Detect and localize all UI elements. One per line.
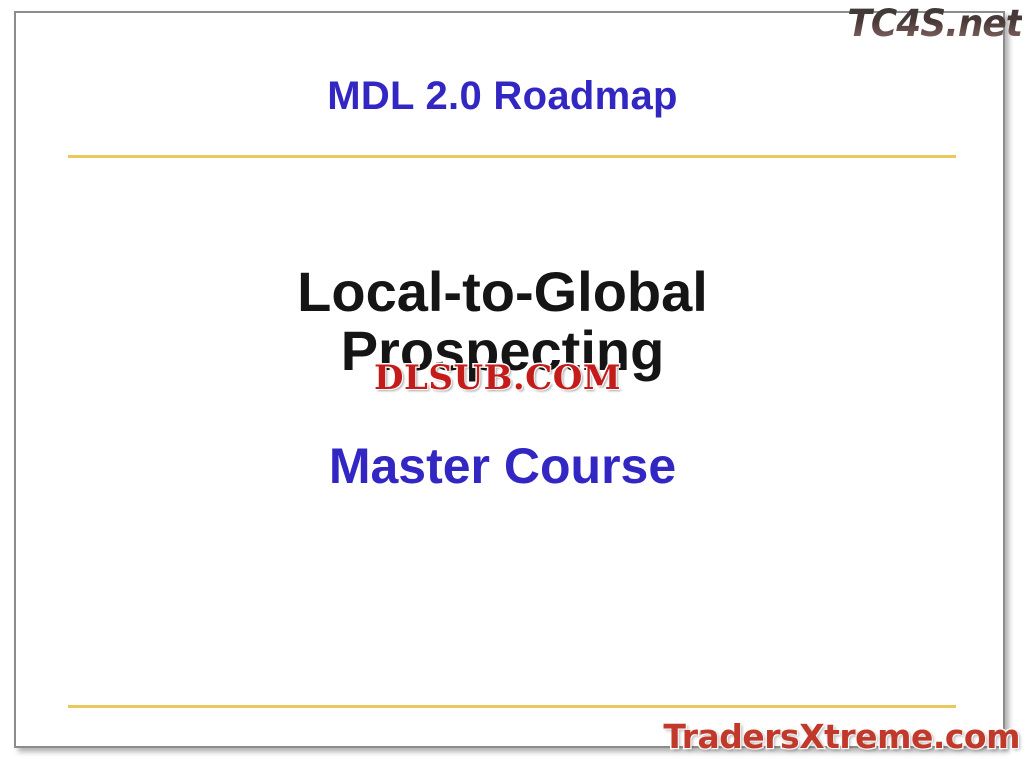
slide-canvas: MDL 2.0 Roadmap Local-to-Global Prospect… [0,0,1024,768]
divider-top [68,155,956,158]
watermark-tradersxtreme: TradersXtreme.com [663,717,1020,756]
watermark-dlsub: DLSUB.COM [374,358,621,398]
divider-bottom [68,705,956,708]
headline-line-1: Local-to-Global [0,262,1005,321]
page-title: MDL 2.0 Roadmap [0,74,1005,119]
watermark-tc4s: TC4S.net [847,2,1022,45]
subheadline: Master Course [0,437,1005,495]
